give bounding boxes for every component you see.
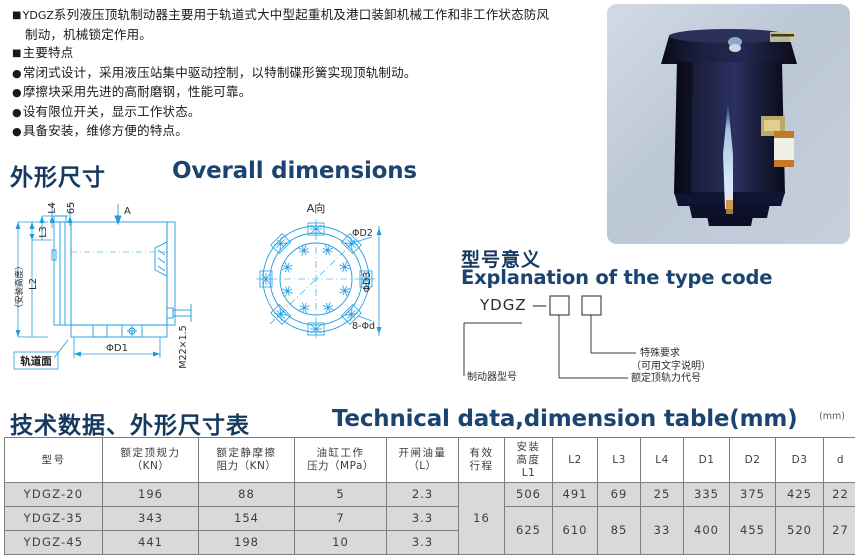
feature-text: 常闭式设计，采用液压站集中驱动控制，以特制碟形簧实现顶轨制动。 bbox=[23, 65, 417, 80]
feature-item: ●设有限位开关，显示工作状态。 bbox=[12, 103, 600, 123]
cell-L1: 625 bbox=[505, 507, 553, 555]
drawing-label-A: A bbox=[124, 206, 131, 217]
cell-L1: 506 bbox=[505, 483, 553, 507]
cell-rated-force: 196 bbox=[103, 483, 199, 507]
product-photo bbox=[607, 4, 850, 244]
type-code-note-left: 制动器型号 bbox=[467, 370, 517, 383]
col-header-L4: L4 bbox=[641, 438, 684, 483]
section-heading-table-en: Technical data,dimension table(mm) bbox=[332, 406, 797, 432]
type-code-box-2 bbox=[582, 296, 601, 315]
circle-bullet-icon: ● bbox=[12, 67, 22, 80]
col-header-D3: D3 bbox=[776, 438, 824, 483]
drawing-label-L2: L2 bbox=[28, 278, 39, 290]
table-row: YDGZ-20 196 88 5 2.3 16 506 491 69 25 33… bbox=[5, 483, 855, 507]
section-heading-table-cn: 技术数据、外形尺寸表 bbox=[10, 406, 250, 440]
cell-static-friction: 88 bbox=[199, 483, 295, 507]
drawing-view-a-title: A向 bbox=[307, 201, 326, 215]
cell-cylinder-pressure: 7 bbox=[295, 507, 387, 531]
cell-L2: 610 bbox=[553, 507, 598, 555]
drawing-front-view-svg: A （安装高度） L2 L3 L4 65 M22×1.5 ΦD1 bbox=[8, 192, 238, 392]
col-header-release-oil: 开闸油量 （L） bbox=[387, 438, 459, 483]
col-header-L2: L2 bbox=[553, 438, 598, 483]
section-heading-dimensions-cn: 外形尺寸 bbox=[10, 158, 106, 192]
intro-lead-line1: ■YDGZ系列液压顶轨制动器主要用于轨道式大中型起重机及港口装卸机械工作和非工作… bbox=[12, 6, 600, 26]
col-header-L3: L3 bbox=[598, 438, 641, 483]
drawing-label-L4: L4 bbox=[47, 202, 58, 213]
cell-d: 22 bbox=[824, 483, 855, 507]
col-header-cylinder-pressure: 油缸工作 压力（MPa） bbox=[295, 438, 387, 483]
drawing-view-a-svg: A向 bbox=[248, 196, 438, 346]
features-title: 主要特点 bbox=[23, 45, 74, 60]
cell-D2: 375 bbox=[730, 483, 776, 507]
drawing-label-install-height: （安装高度） bbox=[14, 261, 25, 312]
drawing-label-D1: ΦD1 bbox=[106, 343, 128, 354]
cell-rated-force: 343 bbox=[103, 507, 199, 531]
circle-bullet-icon: ● bbox=[12, 106, 22, 119]
features-title-line: ■主要特点 bbox=[12, 44, 600, 64]
cell-D1: 335 bbox=[684, 483, 730, 507]
square-bullet-icon: ■ bbox=[12, 48, 22, 59]
cell-release-oil: 3.3 bbox=[387, 507, 459, 531]
cell-model: YDGZ-45 bbox=[5, 531, 103, 555]
cell-L3: 85 bbox=[598, 507, 641, 555]
feature-text: 摩擦块采用先进的高耐磨钢，性能可靠。 bbox=[23, 84, 252, 99]
cell-rated-force: 441 bbox=[103, 531, 199, 555]
drawing-label-rail-surface: 轨道面 bbox=[20, 355, 52, 368]
spec-table: 型号 额定顶规力 （KN） 额定静摩擦 阻力（KN） 油缸工作 压力（MPa） bbox=[4, 437, 855, 555]
square-bullet-icon: ■ bbox=[12, 10, 22, 21]
feature-item: ●摩擦块采用先进的高耐磨钢，性能可靠。 bbox=[12, 83, 600, 103]
cell-release-oil: 2.3 bbox=[387, 483, 459, 507]
datasheet-page: ■YDGZ系列液压顶轨制动器主要用于轨道式大中型起重机及港口装卸机械工作和非工作… bbox=[0, 0, 855, 553]
table-row: YDGZ-35 343 154 7 3.3 625 610 85 33 400 … bbox=[5, 507, 855, 531]
cell-model: YDGZ-35 bbox=[5, 507, 103, 531]
cell-d: 27 bbox=[824, 507, 855, 555]
section-heading-dimensions-en: Overall dimensions bbox=[172, 158, 417, 184]
drawing-label-D2: ΦD2 bbox=[352, 228, 373, 239]
drawing-front-view: A （安装高度） L2 L3 L4 65 M22×1.5 ΦD1 bbox=[8, 192, 238, 396]
feature-item: ●具备安装，维修方便的特点。 bbox=[12, 122, 600, 142]
cell-D3: 425 bbox=[776, 483, 824, 507]
intro-text-block: ■YDGZ系列液压顶轨制动器主要用于轨道式大中型起重机及港口装卸机械工作和非工作… bbox=[12, 6, 600, 142]
cell-L4: 25 bbox=[641, 483, 684, 507]
cell-cylinder-pressure: 5 bbox=[295, 483, 387, 507]
product-photo-image bbox=[607, 4, 850, 244]
cell-D1: 400 bbox=[684, 507, 730, 555]
intro-lead-text: 系列液压顶轨制动器主要用于轨道式大中型起重机及港口装卸机械工作和非工作状态防风 bbox=[54, 7, 549, 22]
type-code-dash: — bbox=[532, 296, 547, 314]
cell-cylinder-pressure: 10 bbox=[295, 531, 387, 555]
circle-bullet-icon: ● bbox=[12, 125, 22, 138]
table-unit-note: (mm) bbox=[819, 411, 845, 422]
cell-static-friction: 198 bbox=[199, 531, 295, 555]
type-code-box-1 bbox=[550, 296, 569, 315]
section-heading-typecode-en: Explanation of the type code bbox=[461, 266, 772, 289]
drawing-label-L3: L3 bbox=[38, 226, 49, 237]
cell-L2: 491 bbox=[553, 483, 598, 507]
col-header-D1: D1 bbox=[684, 438, 730, 483]
type-code-diagram: YDGZ — 制动器型号 额定顶轨力代号 特殊要求 （可用文字说明） bbox=[450, 292, 850, 396]
feature-text: 设有限位开关，显示工作状态。 bbox=[23, 104, 201, 119]
circle-bullet-icon: ● bbox=[12, 86, 22, 99]
col-header-effective-stroke: 有效 行程 bbox=[459, 438, 505, 483]
col-header-install-height: 安装 高度 L1 bbox=[505, 438, 553, 483]
drawing-label-65: 65 bbox=[66, 202, 77, 214]
col-header-rated-force: 额定顶规力 （KN） bbox=[103, 438, 199, 483]
cell-model: YDGZ-20 bbox=[5, 483, 103, 507]
drawing-label-8-d: 8-Φd bbox=[352, 321, 375, 332]
cell-L4: 33 bbox=[641, 507, 684, 555]
cell-D3: 520 bbox=[776, 507, 824, 555]
type-code-note-mid: 额定顶轨力代号 bbox=[631, 371, 701, 384]
drawing-label-D3: ΦD3 bbox=[362, 272, 373, 293]
feature-item: ●常闭式设计，采用液压站集中驱动控制，以特制碟形簧实现顶轨制动。 bbox=[12, 64, 600, 84]
col-header-model: 型号 bbox=[5, 438, 103, 483]
cell-D2: 455 bbox=[730, 507, 776, 555]
intro-model-name: YDGZ bbox=[23, 9, 54, 22]
col-header-static-friction: 额定静摩擦 阻力（KN） bbox=[199, 438, 295, 483]
type-code-note-right-2: （可用文字说明） bbox=[631, 359, 711, 372]
cell-static-friction: 154 bbox=[199, 507, 295, 531]
col-header-D2: D2 bbox=[730, 438, 776, 483]
table-header-row: 型号 额定顶规力 （KN） 额定静摩擦 阻力（KN） 油缸工作 压力（MPa） bbox=[5, 438, 855, 483]
cell-L3: 69 bbox=[598, 483, 641, 507]
cell-release-oil: 3.3 bbox=[387, 531, 459, 555]
intro-lead-line2: 制动，机械锁定作用。 bbox=[12, 26, 600, 45]
drawing-view-a: A向 bbox=[248, 196, 438, 350]
feature-text: 具备安装，维修方便的特点。 bbox=[23, 123, 188, 138]
cell-effective-stroke: 16 bbox=[459, 483, 505, 555]
type-code-diagram-svg: YDGZ — 制动器型号 额定顶轨力代号 特殊要求 （可用文字说明） bbox=[450, 292, 850, 392]
spec-table-container: 型号 额定顶规力 （KN） 额定静摩擦 阻力（KN） 油缸工作 压力（MPa） bbox=[4, 437, 851, 555]
type-code-note-right-1: 特殊要求 bbox=[640, 346, 680, 359]
type-code-prefix: YDGZ bbox=[479, 296, 527, 314]
drawing-label-M22: M22×1.5 bbox=[178, 325, 189, 368]
col-header-d: d bbox=[824, 438, 855, 483]
